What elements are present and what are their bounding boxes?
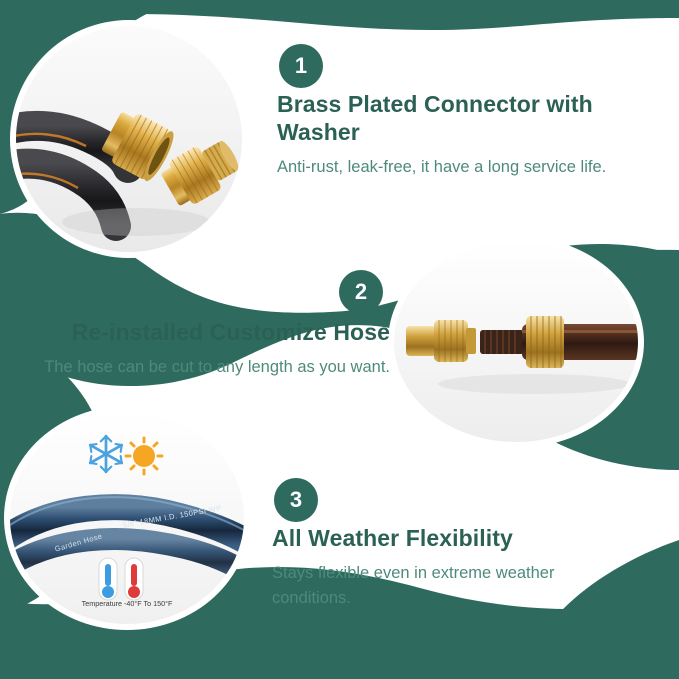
feature-1-image xyxy=(16,26,242,252)
feature-3-image: 5/8" 18MM I.D. 150PSI WP Garden Hose Tem… xyxy=(10,412,244,624)
feature-3-text: All Weather Flexibility Stays flexible e… xyxy=(272,524,612,611)
feature-1-number-badge: 1 xyxy=(279,44,323,88)
feature-3-number-badge: 3 xyxy=(274,478,318,522)
feature-3-description: Stays flexible even in extreme weather c… xyxy=(272,561,612,611)
feature-2-number-badge: 2 xyxy=(339,270,383,314)
feature-1-text: Brass Plated Connector with Washer Anti-… xyxy=(277,90,607,180)
sun-icon xyxy=(126,438,162,474)
feature-2-heading: Re-installed Customize Hose xyxy=(44,318,390,346)
infographic-canvas: 5/8" 18MM I.D. 150PSI WP Garden Hose Tem… xyxy=(0,0,679,679)
thermometer-cold-icon xyxy=(99,558,117,600)
temperature-caption: Temperature -40°F To 150°F xyxy=(82,599,173,608)
feature-2-description: The hose can be cut to any length as you… xyxy=(44,355,390,380)
feature-1-description: Anti-rust, leak-free, it have a long ser… xyxy=(277,155,607,180)
feature-2-image xyxy=(394,242,638,442)
feature-3-heading: All Weather Flexibility xyxy=(272,524,612,552)
feature-2-text: Re-installed Customize Hose The hose can… xyxy=(44,318,390,380)
thermometer-hot-icon-2 xyxy=(125,558,143,600)
feature-1-heading: Brass Plated Connector with Washer xyxy=(277,90,607,146)
